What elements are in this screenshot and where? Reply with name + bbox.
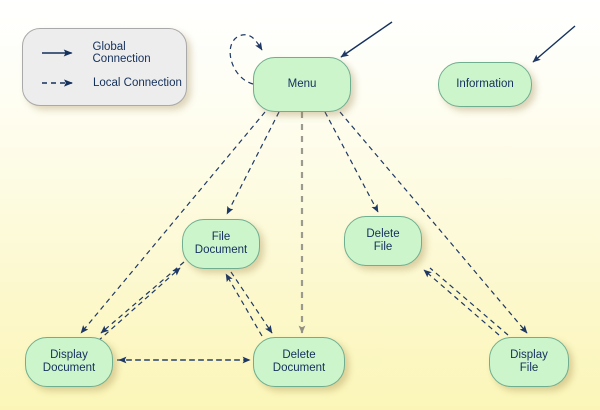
node-information[interactable]: Information xyxy=(438,62,532,107)
node-display-document[interactable]: Display Document xyxy=(25,337,113,387)
node-menu[interactable]: Menu xyxy=(253,57,351,112)
solid-arrow-icon xyxy=(41,47,83,59)
node-delete-file-label: Delete File xyxy=(366,228,399,254)
edge-file-document-to-display-doc xyxy=(101,262,184,333)
connection-legend: Global Connection Local Connection xyxy=(22,28,187,106)
diagram-canvas: Global Connection Local Connection Menu … xyxy=(0,0,600,410)
edge-display-doc-to-file-document xyxy=(98,268,180,341)
node-file-document[interactable]: File Document xyxy=(182,219,260,269)
node-delete-document-label: Delete Document xyxy=(273,349,325,375)
edge-delete-doc-to-file-document xyxy=(226,274,262,336)
node-display-file[interactable]: Display File xyxy=(489,337,569,387)
node-delete-document[interactable]: Delete Document xyxy=(253,337,345,387)
edge-file-document-to-delete-doc xyxy=(231,272,272,333)
legend-item-local-label: Local Connection xyxy=(93,77,182,89)
edge-external-to-information xyxy=(533,26,575,62)
node-information-label: Information xyxy=(456,78,514,91)
edge-menu-to-delete-file xyxy=(325,112,378,212)
edge-external-to-menu xyxy=(341,22,392,57)
legend-item-global-label: Global Connection xyxy=(93,41,187,65)
dashed-arrow-icon xyxy=(41,77,83,89)
legend-item-local: Local Connection xyxy=(41,68,186,98)
legend-item-global: Global Connection xyxy=(41,38,186,68)
node-menu-label: Menu xyxy=(288,78,317,91)
node-display-document-label: Display Document xyxy=(43,349,95,375)
node-file-document-label: File Document xyxy=(195,231,247,257)
node-delete-file[interactable]: Delete File xyxy=(344,216,422,266)
node-display-file-label: Display File xyxy=(510,349,548,375)
edge-display-file-to-delete-file xyxy=(424,268,508,335)
